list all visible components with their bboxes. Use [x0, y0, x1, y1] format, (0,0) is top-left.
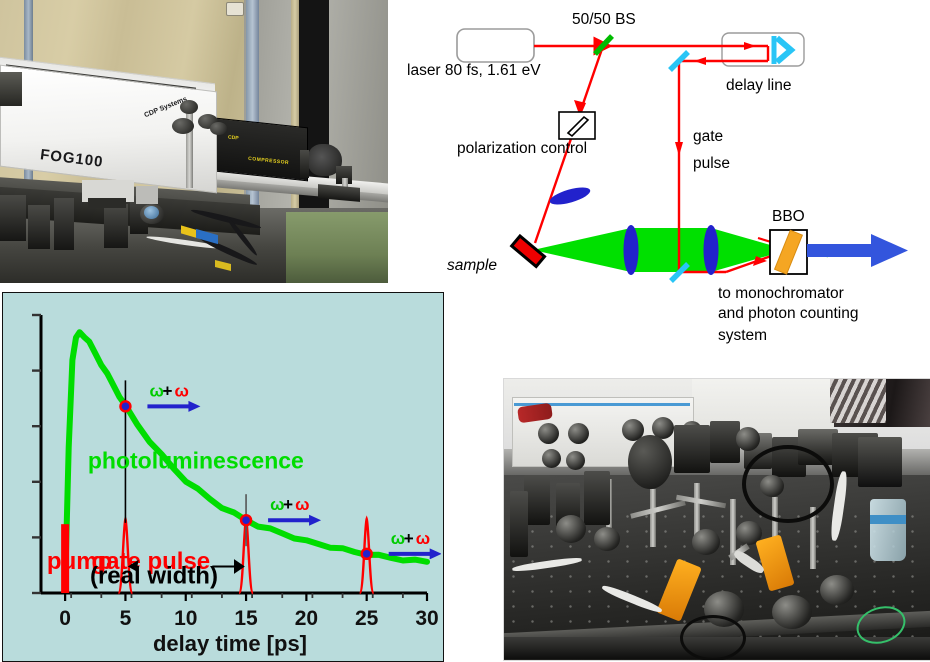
photo-optic-4 [104, 204, 128, 248]
chart-canvas: 051015202530delay time [ps]ω+ωω+ωω+ωphot… [3, 293, 441, 659]
x-tick-label: 0 [59, 607, 71, 630]
photo2-mirror-d [594, 527, 620, 551]
photo2-cable-loop [742, 445, 834, 523]
laser-source-box [457, 29, 534, 62]
x-axis-label: delay time [ps] [153, 631, 307, 656]
omega-plus: + [162, 381, 172, 400]
beam-arrow-gate [675, 142, 683, 156]
marker-dot [363, 550, 371, 558]
photo2-knob-1 [538, 423, 559, 444]
x-tick-label: 30 [415, 607, 438, 630]
output-label-line1: to monochromator [718, 285, 844, 303]
photo-optical-table [503, 378, 930, 661]
photo2-cable-front [680, 615, 746, 661]
photo-optic-1 [0, 195, 26, 241]
photo-floor-green [286, 212, 388, 283]
omega-plus: + [404, 529, 414, 548]
marker-dot [242, 516, 250, 524]
beamsplitter-label: 50/50 BS [572, 11, 636, 29]
photo-mirror-mount-3 [210, 122, 227, 135]
photo2-bottle-label [870, 515, 906, 524]
x-tick-label: 25 [355, 607, 379, 630]
photo2-mount-right [858, 437, 902, 487]
pl-cone-1 [533, 228, 631, 272]
photo2-striped-object [830, 379, 886, 423]
output-label-line2: and photon counting [718, 305, 858, 323]
beam-arrow-return [694, 57, 706, 65]
omega-plus: + [283, 495, 293, 514]
lens-collection-2 [704, 225, 719, 275]
photo-optic-2 [28, 205, 50, 249]
bbo-label: BBO [772, 208, 805, 226]
upconversion-arrow-head [430, 548, 441, 559]
photo2-optic-left-4 [510, 491, 528, 557]
photo2-mirror-c [556, 515, 586, 543]
x-tick-label: 15 [234, 607, 258, 630]
laser-label: laser 80 fs, 1.61 eV [407, 62, 541, 80]
upconversion-arrow-head [188, 401, 200, 412]
photo2-knob-3 [542, 449, 561, 468]
photo-optic-3 [54, 198, 74, 250]
photo-mount-a [300, 150, 309, 178]
x-tick-label: 5 [120, 607, 132, 630]
marker-dot [122, 403, 130, 411]
pl-beam-collimated [631, 228, 711, 272]
photo-wall-vent [226, 2, 244, 16]
photo2-mount-a [674, 425, 710, 473]
photo2-knob-4 [566, 451, 585, 470]
photo2-mirror-a [736, 427, 760, 451]
real-width-label: (real width) [90, 563, 218, 590]
photo2-knob-2 [568, 423, 589, 444]
photo2-base-2 [772, 595, 812, 629]
delay-line-label: delay line [726, 77, 792, 95]
photo2-post-2 [650, 489, 656, 547]
omega-red: ω [295, 495, 309, 514]
polarization-control-label: polarization control [457, 140, 587, 158]
photo2-base-3 [820, 575, 854, 605]
x-tick-label: 10 [174, 607, 197, 630]
photo2-bottle [870, 499, 906, 561]
gate-pulse-label-line2: pulse [693, 155, 730, 173]
decay-chart-panel: 051015202530delay time [ps]ω+ωω+ωω+ωphot… [2, 292, 444, 662]
photo-small-block [136, 186, 158, 204]
photo2-optic-left-3 [584, 471, 610, 525]
photo-fog100-spectrometer: COMPRESSOR CDP FOG100 CDP Systems [0, 0, 388, 283]
photo-module-slot [88, 198, 126, 208]
photo-left-edge-optic [0, 72, 22, 106]
upconversion-arrow-head [309, 515, 321, 526]
photo2-large-mirror [628, 435, 672, 489]
sample-holder [512, 236, 545, 267]
optical-setup-diagram: laser 80 fs, 1.61 eV 50/50 BS delay line… [396, 0, 930, 310]
omega-red: ω [416, 529, 430, 548]
gate-pulse-label-line1: gate [693, 128, 723, 146]
photo-cdp-small-label: CDP [228, 134, 239, 141]
x-tick-label: 20 [295, 607, 318, 630]
photo-knob-top [180, 100, 198, 114]
lens-collection-1 [624, 225, 639, 275]
omega-red: ω [174, 381, 188, 400]
upconverted-output-arrow [807, 234, 908, 267]
output-label-line3: system [718, 327, 767, 345]
photo2-mirror-e [692, 529, 720, 555]
photo-mirror-mount-1 [172, 118, 194, 134]
photoluminescence-label: photoluminescence [88, 448, 304, 474]
sample-label: sample [447, 257, 497, 275]
photo-blue-optic [144, 206, 159, 219]
